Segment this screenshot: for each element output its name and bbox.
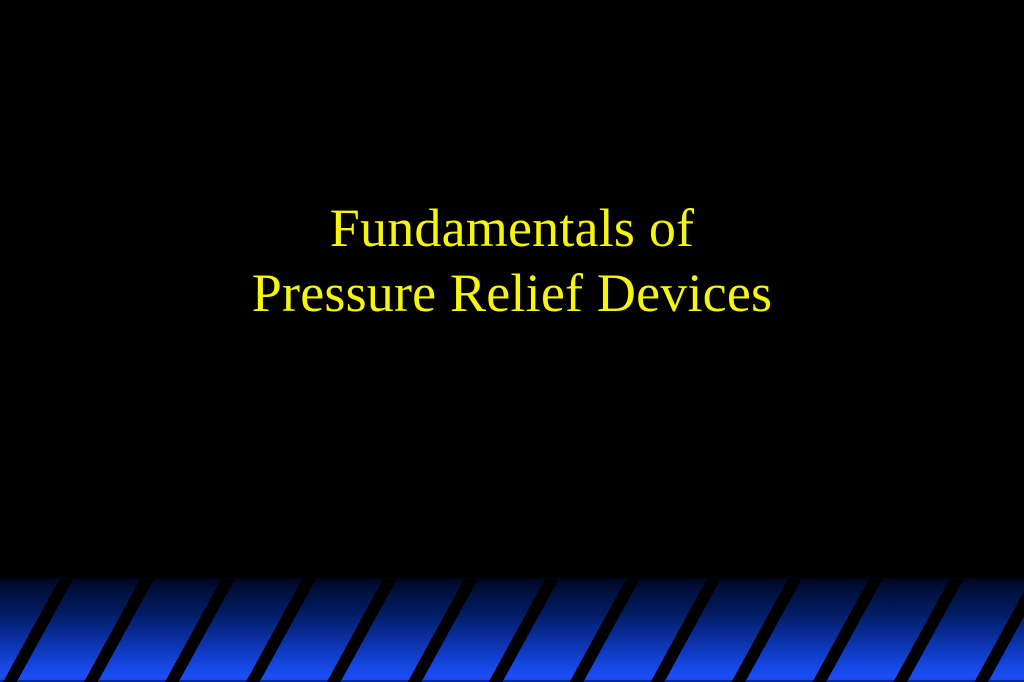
band-top-edge <box>0 578 1024 579</box>
title-line-2: Pressure Relief Devices <box>0 261 1024 326</box>
footer-striped-band <box>0 578 1024 682</box>
band-diagonal-stripes <box>0 578 1024 682</box>
presentation-slide: Fundamentals of Pressure Relief Devices <box>0 0 1024 682</box>
page-title: Fundamentals of Pressure Relief Devices <box>0 196 1024 326</box>
title-line-1: Fundamentals of <box>0 196 1024 261</box>
